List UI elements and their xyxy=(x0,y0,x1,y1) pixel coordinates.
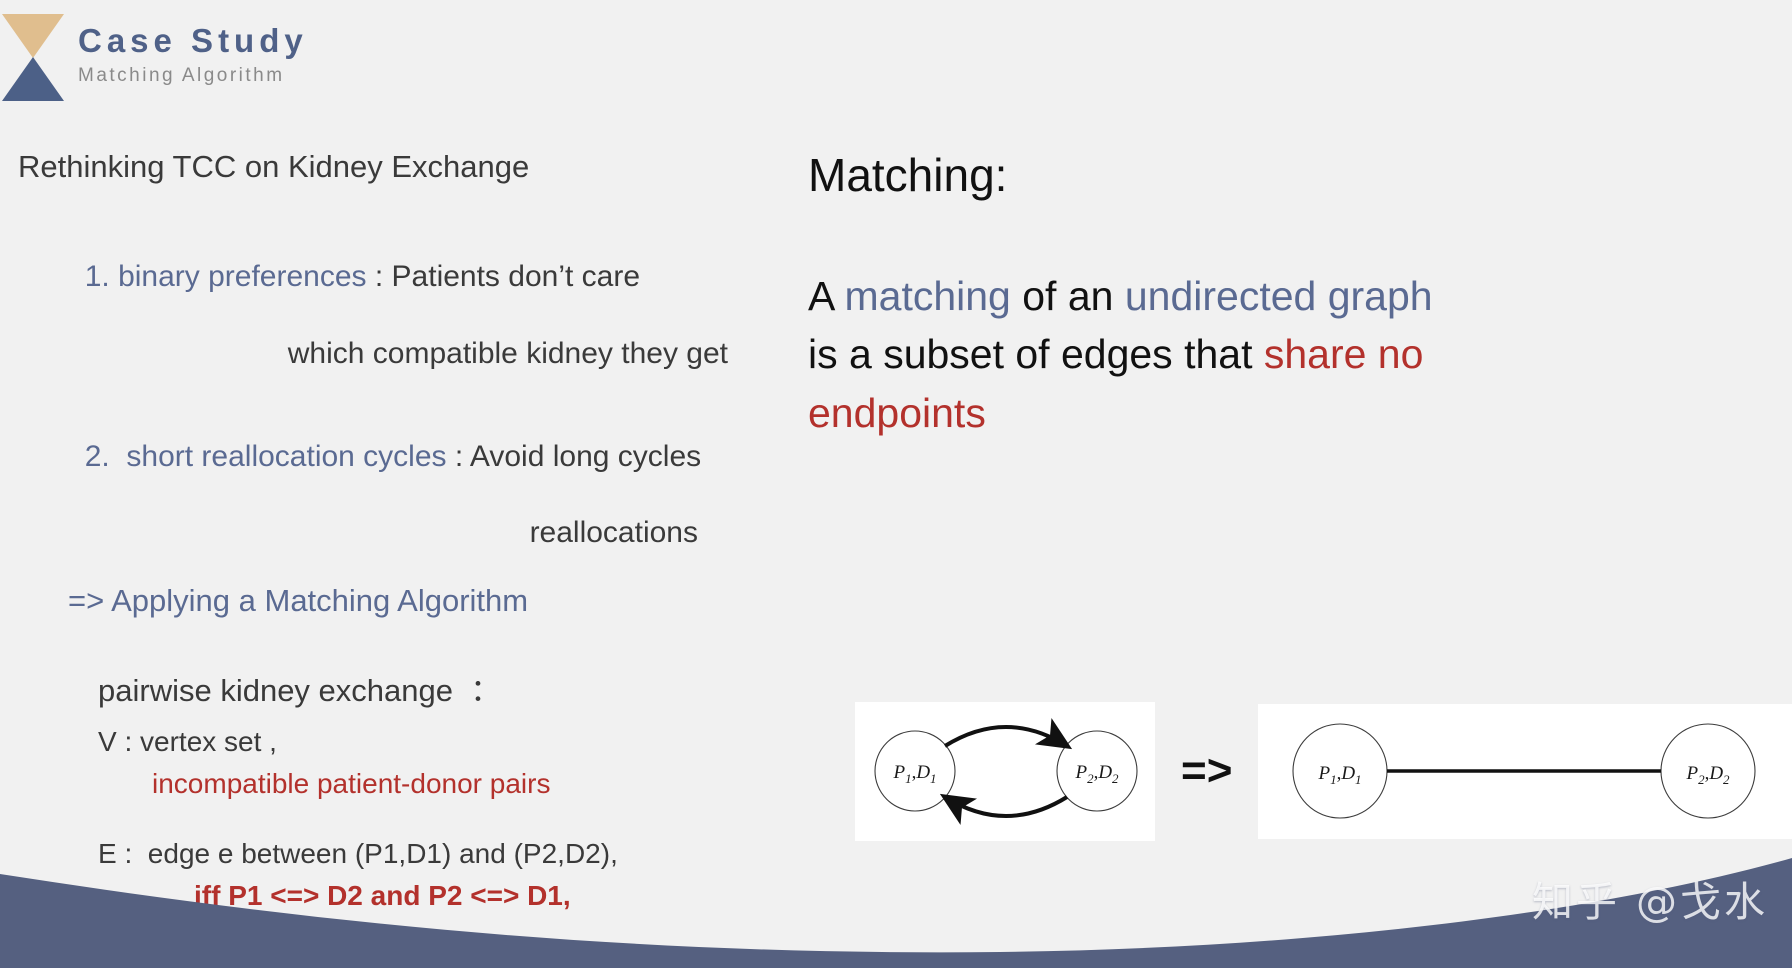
list-item-rest: : Avoid long cycles xyxy=(447,440,702,473)
undirected-graph-panel: P1,D1 P2,D2 xyxy=(1258,704,1792,839)
definition-part-1: A xyxy=(808,273,844,319)
directed-graph-panel: P1,D1 P2,D2 xyxy=(855,702,1155,841)
graph-node-p1d1-label: P1,D1 xyxy=(1318,763,1362,787)
undirected-graph-svg: P1,D1 P2,D2 xyxy=(1258,704,1792,839)
list-item-continuation: which compatible kidney they get xyxy=(18,335,818,373)
compatibility-footnote: * <=> : compatible xyxy=(24,923,818,952)
list-item-number: 1. xyxy=(85,260,110,293)
definitions-block: pairwise kidney exchange ： V : vertex se… xyxy=(98,665,818,952)
definitions-title: pairwise kidney exchange ： xyxy=(98,665,818,710)
logo-top-triangle xyxy=(2,14,64,58)
list-item-term: binary preferences xyxy=(118,260,366,293)
header-text-block: Case Study Matching Algorithm xyxy=(78,14,308,87)
edge-set-detail-rest: P1 <=> D2 and P2 <=> D1, xyxy=(220,880,570,911)
transform-arrow: => xyxy=(1181,749,1232,793)
node-letter-p: P xyxy=(1318,763,1331,784)
graph-node-p1d1-label: P1,D1 xyxy=(892,762,936,786)
node-letter-d: D xyxy=(915,762,930,783)
node-letter-d: D xyxy=(1341,763,1356,784)
node-subscript-2: 1 xyxy=(930,771,937,786)
left-column: Rethinking TCC on Kidney Exchange 1. bin… xyxy=(18,148,818,952)
conclusion-line: => Applying a Matching Algorithm xyxy=(68,583,818,619)
list-item: 2. short reallocation cycles : Avoid lon… xyxy=(18,399,818,553)
edge-set-detail: iff P1 <=> D2 and P2 <=> D1, xyxy=(98,875,818,917)
list-item-rest: : Patients don’t care xyxy=(367,260,641,293)
list-item-term: short reallocation cycles xyxy=(126,440,446,473)
misspelled-word: iff xyxy=(194,880,220,911)
definition-part-2: of an xyxy=(1011,273,1125,319)
slide-header: Case Study Matching Algorithm xyxy=(0,14,308,100)
node-letter-p: P xyxy=(1686,763,1699,784)
directed-edge-forward xyxy=(945,727,1067,746)
node-subscript-2: 2 xyxy=(1723,772,1730,787)
matching-definition: A matching of an undirected graph is a s… xyxy=(808,267,1468,442)
list-item: 1. binary preferences : Patients don’t c… xyxy=(18,220,818,374)
matching-heading: Matching: xyxy=(808,148,1792,203)
definition-part-3: is a subset of edges that xyxy=(808,331,1264,377)
slide: Case Study Matching Algorithm Rethinking… xyxy=(0,0,1792,968)
vertex-set-line: V : vertex set , xyxy=(98,721,818,763)
node-letter-d: D xyxy=(1709,763,1724,784)
node-subscript-2: 2 xyxy=(1112,771,1119,786)
watermark: 知乎 @戈水 xyxy=(1532,868,1768,928)
lead-heading: Rethinking TCC on Kidney Exchange xyxy=(18,148,818,187)
vertex-set-detail: incompatible patient-donor pairs xyxy=(98,763,818,805)
hourglass-logo-icon xyxy=(2,14,64,100)
header-title: Case Study xyxy=(78,22,308,60)
definitions-spacer xyxy=(98,805,818,833)
node-letter-p: P xyxy=(1074,762,1087,783)
directed-graph-svg: P1,D1 P2,D2 xyxy=(855,702,1155,841)
node-letter-d: D xyxy=(1097,762,1112,783)
diagram-row: P1,D1 P2,D2 => P1,D1 P2,D2 xyxy=(855,701,1792,841)
definition-term-undirected-graph: undirected graph xyxy=(1125,273,1433,319)
node-subscript-2: 1 xyxy=(1355,772,1362,787)
edge-set-line: E : edge e between (P1,D1) and (P2,D2), xyxy=(98,833,818,875)
list-item-continuation: reallocations xyxy=(18,514,818,552)
list-item-number: 2. xyxy=(85,440,110,473)
directed-edge-backward xyxy=(945,797,1067,816)
header-subtitle: Matching Algorithm xyxy=(78,65,308,87)
logo-bottom-triangle xyxy=(2,57,64,101)
node-letter-p: P xyxy=(892,762,905,783)
right-column: Matching: A matching of an undirected gr… xyxy=(808,148,1792,442)
definition-term-matching: matching xyxy=(844,273,1010,319)
